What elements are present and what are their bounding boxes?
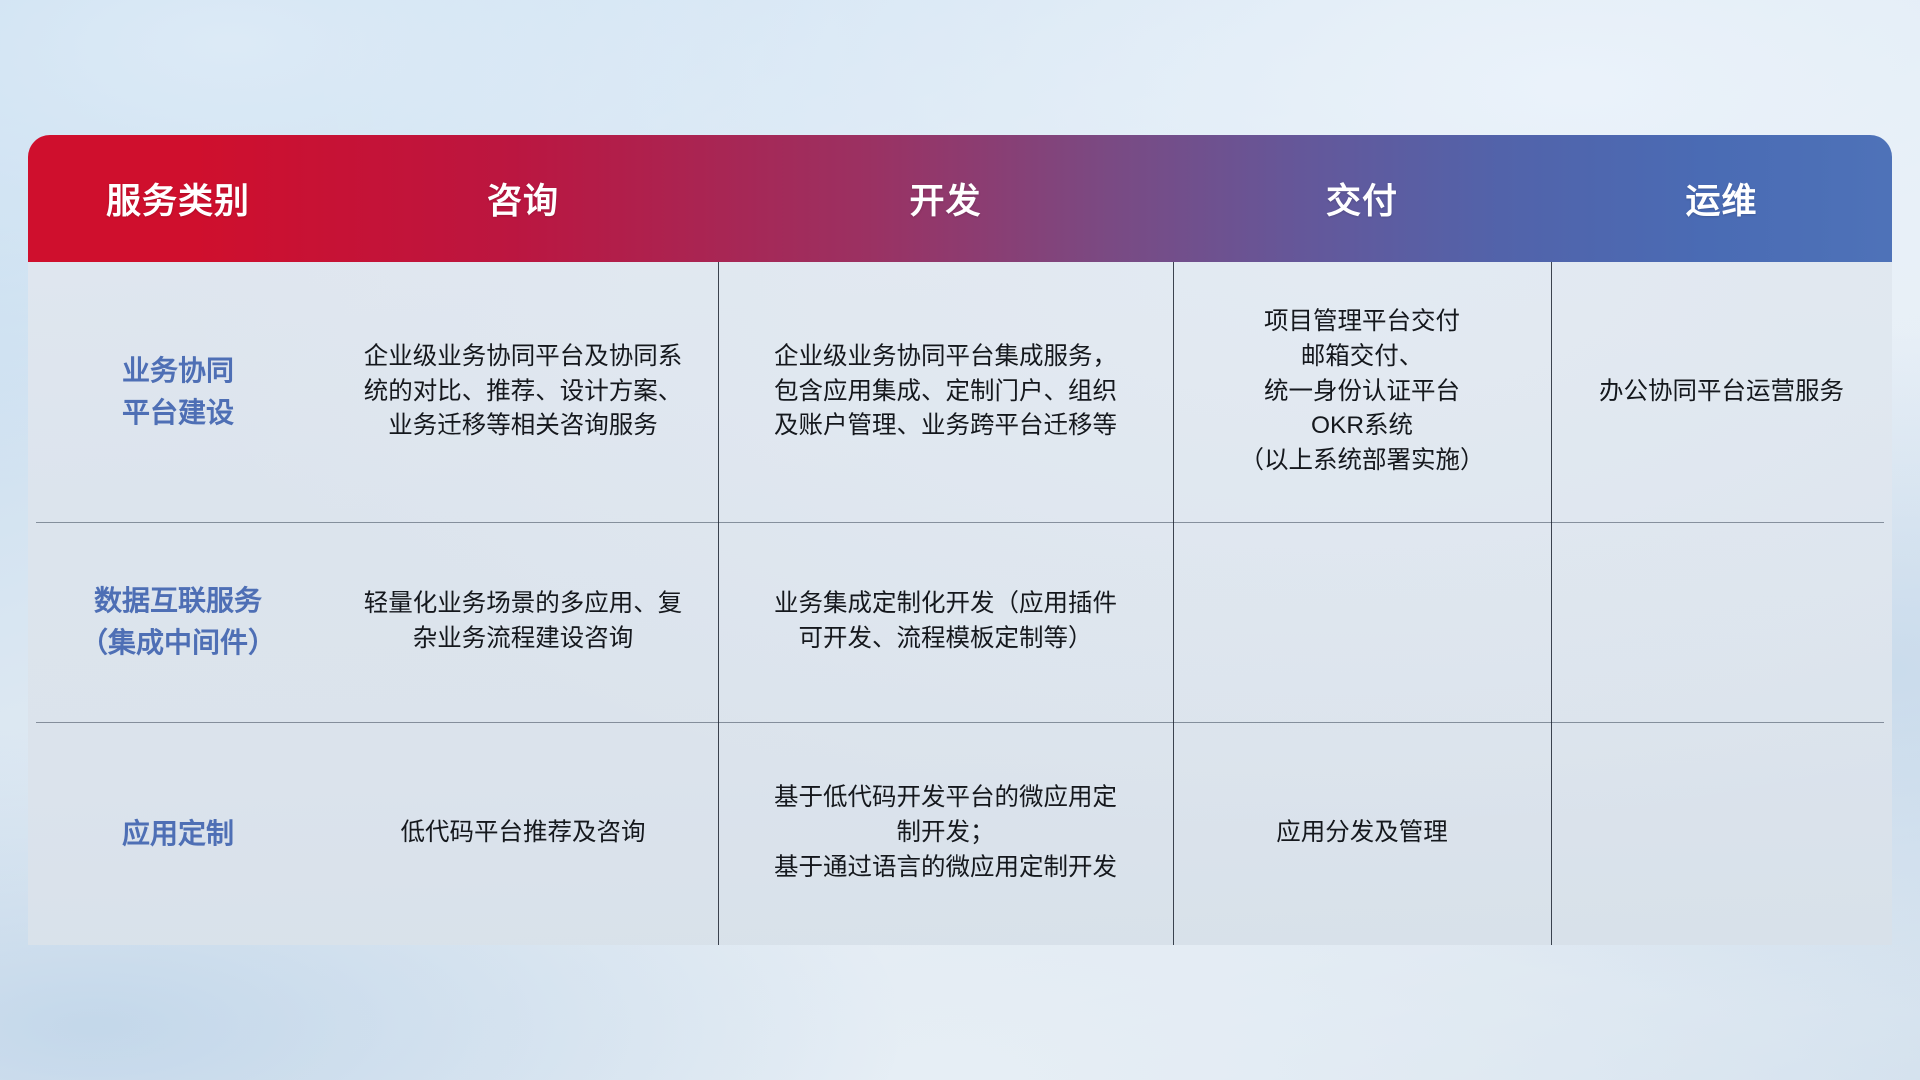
header-label: 服务类别	[106, 173, 250, 224]
table-header-row: 服务类别 咨询 开发 交付 运维	[28, 135, 1892, 262]
row-label-text: 数据互联服务 （集成中间件）	[80, 580, 276, 664]
cell-text: 轻量化业务场景的多应用、复 杂业务流程建设咨询	[364, 587, 683, 657]
row-label-data-interconnect: 数据互联服务 （集成中间件）	[28, 522, 328, 722]
cell-text: 项目管理平台交付 邮箱交付、 统一身份认证平台 OKR系统 （以上系统部署实施）	[1240, 305, 1485, 479]
cell-operations-row3	[1551, 722, 1892, 945]
header-cell-delivery: 交付	[1173, 135, 1551, 262]
cell-delivery-row3: 应用分发及管理	[1173, 722, 1551, 945]
cell-text: 办公协同平台运营服务	[1599, 375, 1844, 410]
cell-text: 企业级业务协同平台集成服务， 包含应用集成、定制门户、组织 及账户管理、业务跨平…	[774, 340, 1117, 444]
cell-development-row2: 业务集成定制化开发（应用插件 可开发、流程模板定制等）	[718, 522, 1173, 722]
service-matrix-table: 服务类别 咨询 开发 交付 运维 业务协同 平台建设 企业级业务协同平台及协同系…	[28, 135, 1892, 945]
header-cell-operations: 运维	[1551, 135, 1892, 262]
cell-text: 应用分发及管理	[1276, 816, 1448, 851]
cell-delivery-row2	[1173, 522, 1551, 722]
header-cell-service-category: 服务类别	[28, 135, 328, 262]
row-label-business-collaboration: 业务协同 平台建设	[28, 262, 328, 522]
cell-text: 基于低代码开发平台的微应用定 制开发； 基于通过语言的微应用定制开发	[774, 781, 1117, 885]
cell-consulting-row2: 轻量化业务场景的多应用、复 杂业务流程建设咨询	[328, 522, 718, 722]
cell-delivery-row1: 项目管理平台交付 邮箱交付、 统一身份认证平台 OKR系统 （以上系统部署实施）	[1173, 262, 1551, 522]
row-label-text: 业务协同 平台建设	[122, 350, 234, 434]
header-label: 开发	[909, 173, 981, 224]
table-row: 业务协同 平台建设 企业级业务协同平台及协同系 统的对比、推荐、设计方案、 业务…	[28, 262, 1892, 522]
cell-text: 企业级业务协同平台及协同系 统的对比、推荐、设计方案、 业务迁移等相关咨询服务	[364, 340, 683, 444]
row-label-app-customization: 应用定制	[28, 722, 328, 945]
cell-text: 低代码平台推荐及咨询	[401, 816, 646, 851]
cell-consulting-row3: 低代码平台推荐及咨询	[328, 722, 718, 945]
cell-text: 业务集成定制化开发（应用插件 可开发、流程模板定制等）	[774, 587, 1117, 657]
row-label-text: 应用定制	[122, 813, 234, 855]
cell-development-row3: 基于低代码开发平台的微应用定 制开发； 基于通过语言的微应用定制开发	[718, 722, 1173, 945]
header-cell-development: 开发	[718, 135, 1173, 262]
header-label: 运维	[1685, 173, 1757, 224]
cell-operations-row2	[1551, 522, 1892, 722]
header-cell-consulting: 咨询	[328, 135, 718, 262]
header-label: 咨询	[487, 173, 559, 224]
table-body: 业务协同 平台建设 企业级业务协同平台及协同系 统的对比、推荐、设计方案、 业务…	[28, 262, 1892, 945]
header-label: 交付	[1326, 173, 1398, 224]
cell-development-row1: 企业级业务协同平台集成服务， 包含应用集成、定制门户、组织 及账户管理、业务跨平…	[718, 262, 1173, 522]
table-row: 数据互联服务 （集成中间件） 轻量化业务场景的多应用、复 杂业务流程建设咨询 业…	[28, 522, 1892, 722]
table-row: 应用定制 低代码平台推荐及咨询 基于低代码开发平台的微应用定 制开发； 基于通过…	[28, 722, 1892, 945]
cell-consulting-row1: 企业级业务协同平台及协同系 统的对比、推荐、设计方案、 业务迁移等相关咨询服务	[328, 262, 718, 522]
cell-operations-row1: 办公协同平台运营服务	[1551, 262, 1892, 522]
